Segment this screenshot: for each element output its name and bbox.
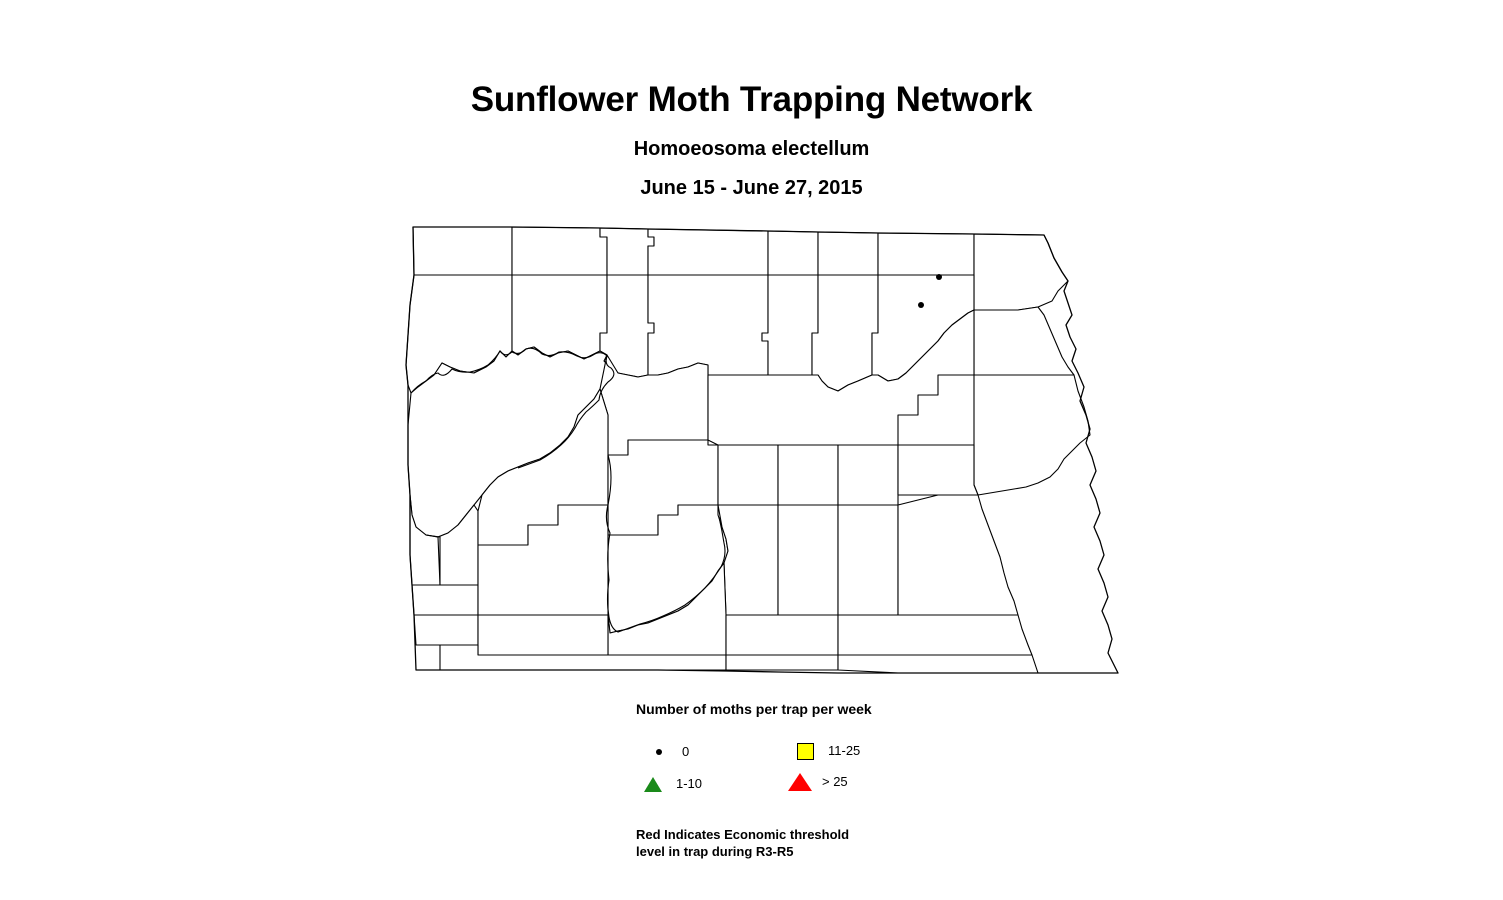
county-map-svg [378, 215, 1138, 685]
legend-item-zero[interactable]: 0 [648, 742, 689, 762]
red-triangle-marker-icon [788, 772, 812, 792]
trap-site-marker[interactable] [918, 302, 924, 308]
legend-label: > 25 [822, 772, 848, 792]
species-subtitle: Homoeosoma electellum [0, 134, 1503, 164]
title-block: Sunflower Moth Trapping Network Homoeoso… [0, 78, 1503, 203]
legend-item-medium[interactable]: 11-25 [794, 741, 860, 761]
map-page: Sunflower Moth Trapping Network Homoeoso… [0, 0, 1503, 900]
date-range: June 15 - June 27, 2015 [0, 173, 1503, 203]
legend-label: 11-25 [828, 741, 860, 761]
county-boundaries [406, 227, 1090, 673]
yellow-square-marker-icon [794, 741, 818, 761]
legend-item-low[interactable]: 1-10 [642, 774, 702, 794]
legend-title: Number of moths per trap per week [636, 700, 966, 718]
legend-label: 0 [682, 742, 689, 762]
legend-note-line-2: level in trap during R3-R5 [636, 843, 966, 860]
page-title: Sunflower Moth Trapping Network [0, 78, 1503, 122]
legend-item-high[interactable]: > 25 [788, 772, 848, 792]
legend-items: 0 1-10 11-25 > 25 [636, 742, 966, 812]
legend: Number of moths per trap per week 0 1-10… [636, 700, 966, 860]
legend-label: 1-10 [676, 774, 702, 794]
trap-site-marker[interactable] [936, 274, 942, 280]
legend-note-line-1: Red Indicates Economic threshold [636, 826, 966, 843]
dot-marker-icon [648, 742, 672, 762]
north-dakota-county-map [378, 215, 1138, 685]
green-triangle-marker-icon [642, 774, 666, 794]
